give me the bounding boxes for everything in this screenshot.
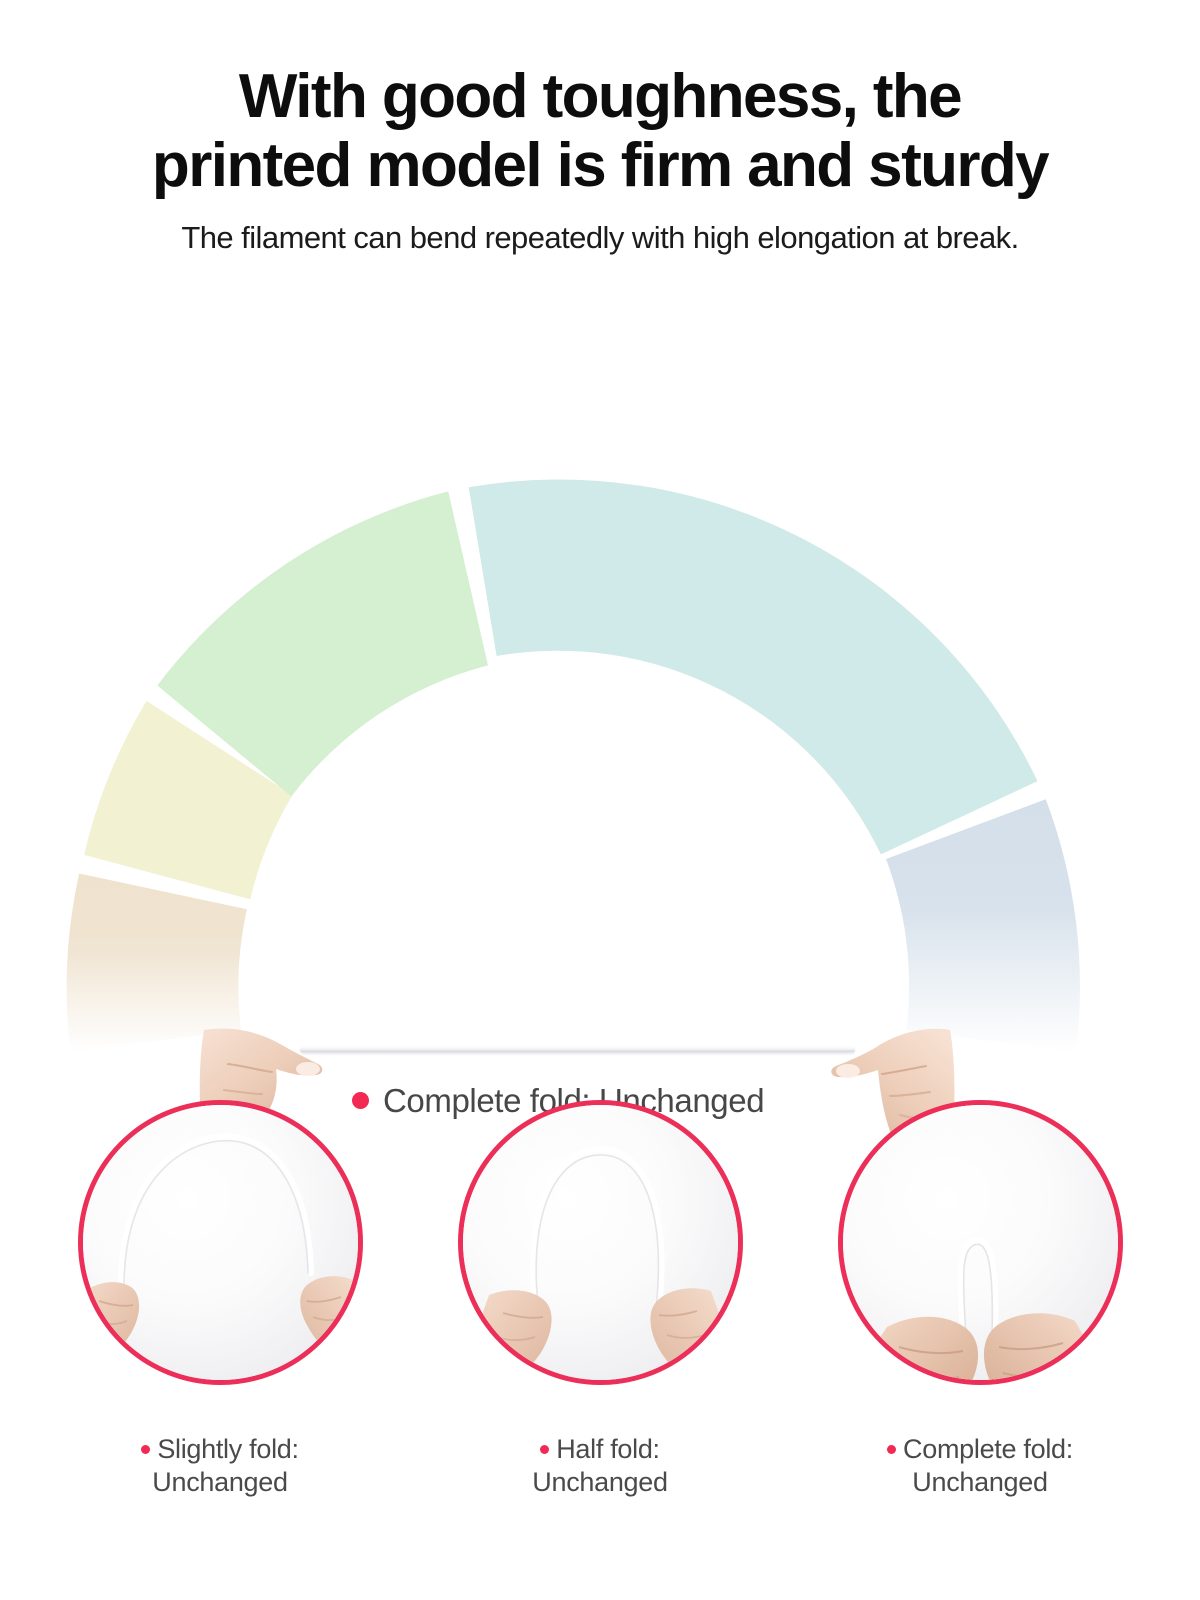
bullet-dot-icon [141,1445,150,1454]
slightly-fold-illustration [83,1105,358,1380]
thumbnail-complete-fold-caption: Complete fold: Unchanged [887,1429,1073,1498]
bullet-dot-icon [540,1445,549,1454]
thumbnail-slightly-fold-caption: Slightly fold: Unchanged [141,1429,298,1498]
page-title: With good toughness, the printed model i… [55,62,1145,201]
ring-segment-mint [469,479,1038,854]
thumbnail-half-fold-image[interactable] [458,1100,743,1385]
filament-strand [300,1046,855,1053]
caption-line-2: Unchanged [532,1466,667,1498]
thumbnail-complete-fold[interactable]: Complete fold: Unchanged [840,1100,1120,1498]
caption-line-2: Unchanged [887,1466,1073,1498]
thumbnail-half-fold[interactable]: Half fold: Unchanged [460,1100,740,1498]
caption-line-2: Unchanged [141,1466,298,1498]
thumbnail-slightly-fold[interactable]: Slightly fold: Unchanged [80,1100,360,1498]
caption-line-1: Slightly fold: [157,1433,298,1465]
fold-thumbnail-row: Slightly fold: Unchanged [0,1100,1200,1498]
page-header: With good toughness, the printed model i… [0,0,1200,258]
half-fold-illustration [463,1105,738,1380]
bullet-dot-icon [887,1445,896,1454]
headline-line-1: With good toughness, the [55,62,1145,131]
thumbnail-slightly-fold-image[interactable] [78,1100,363,1385]
complete-fold-illustration [843,1105,1118,1380]
page-subtitle: The filament can bend repeatedly with hi… [40,219,1160,258]
thumbnail-half-fold-caption: Half fold: Unchanged [532,1429,667,1498]
ring-segments-svg [0,276,1200,1086]
hero-ring-graphic: Complete fold: Unchanged [0,276,1200,1086]
thumbnail-complete-fold-image[interactable] [838,1100,1123,1385]
headline-line-2: printed model is firm and sturdy [55,131,1145,200]
caption-line-1: Complete fold: [903,1433,1073,1465]
caption-line-1: Half fold: [556,1433,660,1465]
